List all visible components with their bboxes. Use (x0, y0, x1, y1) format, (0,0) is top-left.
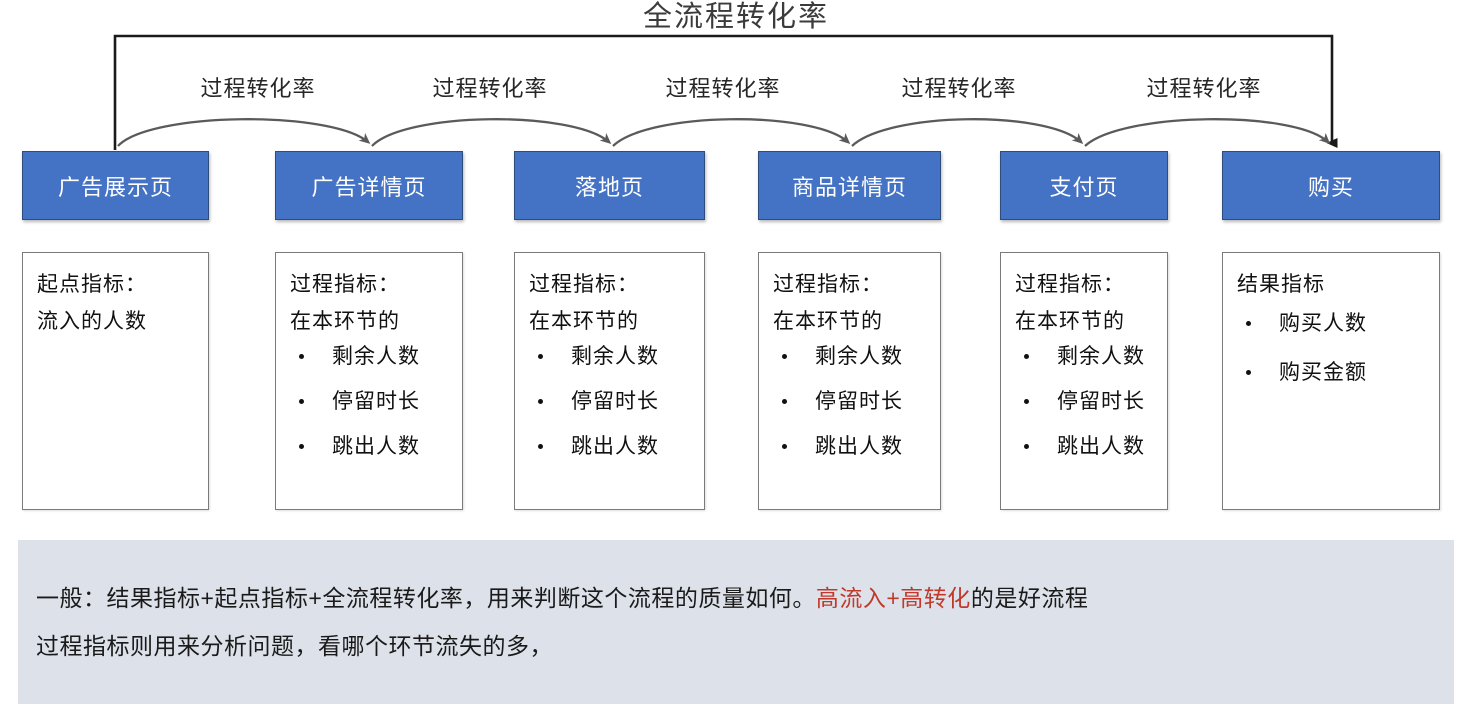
bullet-dot-icon (1246, 321, 1251, 326)
metric-box-ad-detail: 过程指标： 在本环节的 剩余人数 停留时长 跳出人数 (275, 252, 463, 510)
footer-note-highlight: 高流入+高转化 (816, 585, 971, 611)
list-item: 跳出人数 (290, 433, 452, 460)
bullet-dot-icon (1024, 399, 1029, 404)
list-item: 剩余人数 (1015, 343, 1157, 370)
bullet-dot-icon (299, 354, 304, 359)
metric-subtext: 在本环节的 (529, 308, 694, 335)
bullet-dot-icon (538, 399, 543, 404)
list-item: 购买金额 (1237, 359, 1429, 386)
metric-subtext: 流入的人数 (37, 308, 198, 335)
stage-box-payment-page[interactable]: 支付页 (1000, 151, 1168, 220)
metric-bullet-list: 剩余人数 停留时长 跳出人数 (290, 343, 452, 460)
list-item-label: 购买金额 (1279, 361, 1367, 384)
list-item: 剩余人数 (290, 343, 452, 370)
metric-bullet-list: 剩余人数 停留时长 跳出人数 (1015, 343, 1157, 460)
list-item: 跳出人数 (529, 433, 694, 460)
stage-arrows (118, 119, 1328, 146)
bullet-dot-icon (782, 399, 787, 404)
list-item: 跳出人数 (773, 433, 930, 460)
metric-box-ad-impression: 起点指标： 流入的人数 (22, 252, 209, 510)
metric-heading: 结果指标 (1237, 271, 1429, 298)
list-item: 跳出人数 (1015, 433, 1157, 460)
footer-note-text-part1: 一般：结果指标+起点指标+全流程转化率，用来判断这个流程的质量如何。 (36, 585, 816, 611)
stage-conversion-label-5: 过程转化率 (1129, 76, 1279, 102)
list-item: 停留时长 (529, 388, 694, 415)
metric-box-product-detail: 过程指标： 在本环节的 剩余人数 停留时长 跳出人数 (758, 252, 941, 510)
footer-note-line-1: 一般：结果指标+起点指标+全流程转化率，用来判断这个流程的质量如何。高流入+高转… (36, 574, 1426, 622)
stage-box-label: 支付页 (1049, 170, 1118, 202)
list-item-label: 剩余人数 (1057, 345, 1145, 368)
stage-box-label: 商品详情页 (792, 170, 907, 202)
footer-note-band: 一般：结果指标+起点指标+全流程转化率，用来判断这个流程的质量如何。高流入+高转… (18, 540, 1454, 704)
list-item: 停留时长 (290, 388, 452, 415)
list-item-label: 停留时长 (815, 390, 903, 413)
stage-box-product-detail[interactable]: 商品详情页 (758, 151, 941, 220)
stage-box-label: 广告详情页 (311, 170, 426, 202)
stage-conversion-label-3: 过程转化率 (648, 76, 798, 102)
stage-box-ad-impression[interactable]: 广告展示页 (22, 151, 209, 220)
stage-box-label: 广告展示页 (58, 170, 173, 202)
list-item-label: 购买人数 (1279, 312, 1367, 335)
bullet-dot-icon (1024, 444, 1029, 449)
stage-conversion-label-2: 过程转化率 (415, 76, 565, 102)
stage-box-ad-detail[interactable]: 广告详情页 (275, 151, 463, 220)
metric-heading: 过程指标： (529, 271, 694, 298)
list-item-label: 剩余人数 (815, 345, 903, 368)
stage-box-label: 购买 (1308, 170, 1354, 202)
list-item-label: 跳出人数 (815, 435, 903, 458)
bullet-dot-icon (1024, 354, 1029, 359)
list-item-label: 停留时长 (571, 390, 659, 413)
metric-subtext: 在本环节的 (290, 308, 452, 335)
metric-box-payment-page: 过程指标： 在本环节的 剩余人数 停留时长 跳出人数 (1000, 252, 1168, 510)
bullet-dot-icon (538, 354, 543, 359)
stage-conversion-label-4: 过程转化率 (884, 76, 1034, 102)
stage-box-purchase[interactable]: 购买 (1222, 151, 1440, 220)
bullet-dot-icon (538, 444, 543, 449)
list-item: 剩余人数 (529, 343, 694, 370)
metric-box-purchase: 结果指标 购买人数 购买金额 (1222, 252, 1440, 510)
bullet-dot-icon (782, 444, 787, 449)
list-item: 停留时长 (1015, 388, 1157, 415)
footer-note-text-part2: 的是好流程 (971, 585, 1089, 611)
list-item-label: 跳出人数 (1057, 435, 1145, 458)
bullet-dot-icon (1246, 370, 1251, 375)
list-item: 停留时长 (773, 388, 930, 415)
stage-conversion-label-1: 过程转化率 (183, 76, 333, 102)
metric-subtext: 在本环节的 (773, 308, 930, 335)
stage-box-label: 落地页 (575, 170, 644, 202)
metric-bullet-list: 购买人数 购买金额 (1237, 310, 1429, 386)
list-item: 购买人数 (1237, 310, 1429, 337)
metric-subtext: 在本环节的 (1015, 308, 1157, 335)
metric-heading: 过程指标： (1015, 271, 1157, 298)
metric-bullet-list: 剩余人数 停留时长 跳出人数 (529, 343, 694, 460)
list-item-label: 跳出人数 (332, 435, 420, 458)
stage-box-landing-page[interactable]: 落地页 (514, 151, 705, 220)
metric-box-landing-page: 过程指标： 在本环节的 剩余人数 停留时长 跳出人数 (514, 252, 705, 510)
bullet-dot-icon (782, 354, 787, 359)
metric-bullet-list: 剩余人数 停留时长 跳出人数 (773, 343, 930, 460)
bullet-dot-icon (299, 399, 304, 404)
list-item-label: 剩余人数 (571, 345, 659, 368)
list-item: 剩余人数 (773, 343, 930, 370)
list-item-label: 跳出人数 (571, 435, 659, 458)
list-item-label: 停留时长 (332, 390, 420, 413)
list-item-label: 停留时长 (1057, 390, 1145, 413)
metric-heading: 起点指标： (37, 271, 198, 298)
bullet-dot-icon (299, 444, 304, 449)
metric-heading: 过程指标： (290, 271, 452, 298)
list-item-label: 剩余人数 (332, 345, 420, 368)
footer-note-line-2: 过程指标则用来分析问题，看哪个环节流失的多， (36, 622, 1426, 670)
metric-heading: 过程指标： (773, 271, 930, 298)
